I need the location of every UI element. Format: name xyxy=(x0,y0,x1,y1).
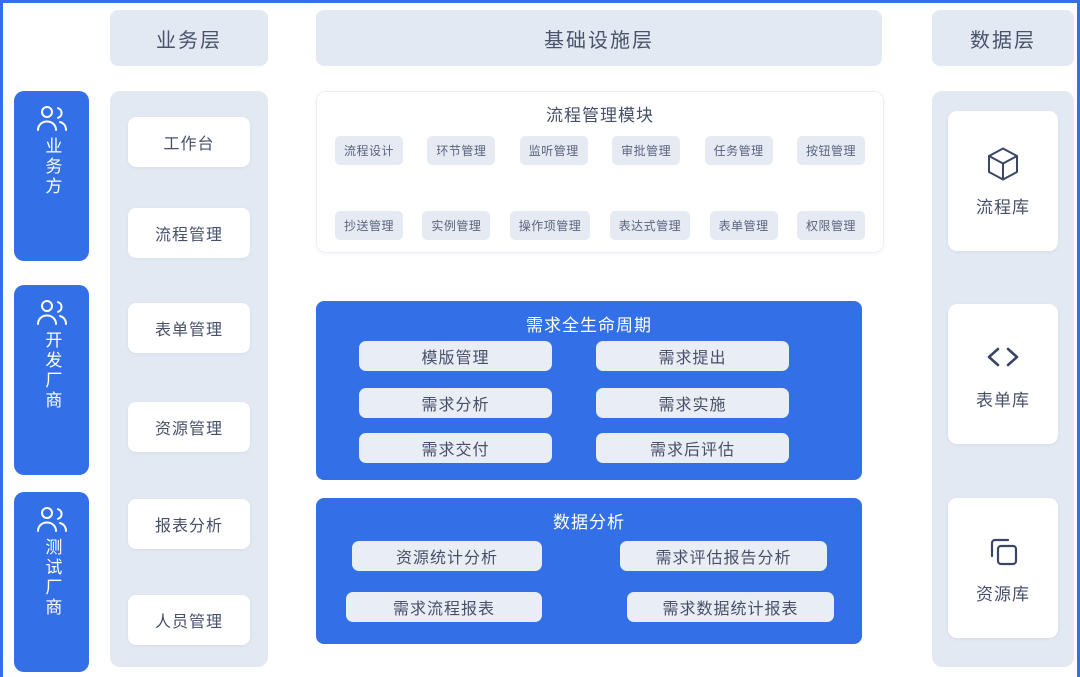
lifecycle-item-label: 需求提出 xyxy=(658,344,726,368)
process-module-title: 流程管理模块 xyxy=(317,101,883,126)
copy-layers-icon xyxy=(984,532,1022,570)
business-item-personnel-management[interactable]: 人员管理 xyxy=(128,595,250,645)
actor-card-test-vendor[interactable]: 测试厂商 xyxy=(14,492,89,672)
users-icon xyxy=(35,105,69,131)
lifecycle-item-requirement-implementation[interactable]: 需求实施 xyxy=(596,388,789,418)
lifecycle-item-label: 需求后评估 xyxy=(650,436,735,460)
data-analysis-panel-title: 数据分析 xyxy=(316,508,862,533)
process-chip[interactable]: 操作项管理 xyxy=(510,211,591,240)
actor-card-label: 开发厂商 xyxy=(41,331,63,411)
lifecycle-item-template-management[interactable]: 模版管理 xyxy=(359,341,552,371)
analysis-item-requirement-evaluation-report[interactable]: 需求评估报告分析 xyxy=(620,541,827,571)
analysis-item-label: 资源统计分析 xyxy=(396,544,498,568)
lifecycle-item-label: 需求实施 xyxy=(658,391,726,415)
process-chip-row-1: 流程设计 环节管理 监听管理 审批管理 任务管理 按钮管理 xyxy=(335,136,865,165)
business-item-label: 流程管理 xyxy=(155,221,223,245)
data-card-form-library[interactable]: 表单库 xyxy=(948,304,1058,444)
lifecycle-item-post-evaluation[interactable]: 需求后评估 xyxy=(596,433,789,463)
cube-icon xyxy=(984,145,1022,183)
business-item-form-management[interactable]: 表单管理 xyxy=(128,303,250,353)
actor-card-label: 业务方 xyxy=(41,137,63,197)
process-chip[interactable]: 监听管理 xyxy=(520,136,588,165)
analysis-item-label: 需求数据统计报表 xyxy=(662,595,798,619)
data-card-label: 表单库 xyxy=(976,386,1030,411)
business-item-label: 表单管理 xyxy=(155,316,223,340)
header-data-layer: 数据层 xyxy=(932,10,1074,66)
header-infrastructure-layer-label: 基础设施层 xyxy=(544,24,654,53)
process-chip[interactable]: 实例管理 xyxy=(422,211,490,240)
architecture-diagram: 业务层 基础设施层 数据层 业务方 开发厂商 xyxy=(0,0,1080,677)
lifecycle-item-label: 需求分析 xyxy=(421,391,489,415)
process-chip[interactable]: 表达式管理 xyxy=(610,211,691,240)
process-chip[interactable]: 抄送管理 xyxy=(335,211,403,240)
header-infrastructure-layer: 基础设施层 xyxy=(316,10,882,66)
analysis-item-requirement-process-report[interactable]: 需求流程报表 xyxy=(346,592,542,622)
header-data-layer-label: 数据层 xyxy=(970,24,1036,53)
data-card-process-library[interactable]: 流程库 xyxy=(948,111,1058,251)
lifecycle-item-label: 需求交付 xyxy=(421,436,489,460)
business-item-label: 资源管理 xyxy=(155,415,223,439)
analysis-item-resource-statistics[interactable]: 资源统计分析 xyxy=(352,541,542,571)
process-chip[interactable]: 表单管理 xyxy=(710,211,778,240)
business-item-workbench[interactable]: 工作台 xyxy=(128,117,250,167)
lifecycle-panel: 需求全生命周期 模版管理 需求分析 需求交付 需求提出 需求实施 需求后评估 xyxy=(316,301,862,480)
process-chip[interactable]: 任务管理 xyxy=(705,136,773,165)
analysis-item-requirement-data-report[interactable]: 需求数据统计报表 xyxy=(627,592,834,622)
process-management-module: 流程管理模块 流程设计 环节管理 监听管理 审批管理 任务管理 按钮管理 抄送管… xyxy=(316,91,884,253)
lifecycle-item-label: 模版管理 xyxy=(421,344,489,368)
business-item-resource-management[interactable]: 资源管理 xyxy=(128,402,250,452)
business-item-label: 人员管理 xyxy=(155,608,223,632)
lifecycle-item-requirement-analysis[interactable]: 需求分析 xyxy=(359,388,552,418)
header-business-layer-label: 业务层 xyxy=(156,24,222,53)
process-chip[interactable]: 环节管理 xyxy=(427,136,495,165)
business-item-report-analysis[interactable]: 报表分析 xyxy=(128,499,250,549)
analysis-item-label: 需求流程报表 xyxy=(393,595,495,619)
process-chip[interactable]: 按钮管理 xyxy=(797,136,865,165)
code-brackets-icon xyxy=(984,338,1022,376)
lifecycle-item-requirement-delivery[interactable]: 需求交付 xyxy=(359,433,552,463)
analysis-item-label: 需求评估报告分析 xyxy=(655,544,791,568)
process-chip[interactable]: 流程设计 xyxy=(335,136,403,165)
users-icon xyxy=(35,506,69,532)
business-item-label: 工作台 xyxy=(163,130,214,154)
data-analysis-panel: 数据分析 资源统计分析 需求流程报表 需求评估报告分析 需求数据统计报表 xyxy=(316,498,862,644)
business-item-process-management[interactable]: 流程管理 xyxy=(128,208,250,258)
lifecycle-panel-title: 需求全生命周期 xyxy=(316,311,862,336)
process-chip[interactable]: 审批管理 xyxy=(612,136,680,165)
process-chip-row-2: 抄送管理 实例管理 操作项管理 表达式管理 表单管理 权限管理 xyxy=(335,211,865,240)
data-layer-column: 流程库 表单库 资源库 xyxy=(932,91,1074,667)
data-card-label: 流程库 xyxy=(976,193,1030,218)
actor-card-label: 测试厂商 xyxy=(41,538,63,618)
data-card-resource-library[interactable]: 资源库 xyxy=(948,498,1058,638)
business-item-label: 报表分析 xyxy=(155,512,223,536)
actor-card-dev-vendor[interactable]: 开发厂商 xyxy=(14,285,89,475)
users-icon xyxy=(35,299,69,325)
data-card-label: 资源库 xyxy=(976,580,1030,605)
lifecycle-item-requirement-proposal[interactable]: 需求提出 xyxy=(596,341,789,371)
header-business-layer: 业务层 xyxy=(110,10,268,66)
business-layer-column: 工作台 流程管理 表单管理 资源管理 报表分析 人员管理 xyxy=(110,91,268,667)
process-chip[interactable]: 权限管理 xyxy=(797,211,865,240)
actor-card-business-party[interactable]: 业务方 xyxy=(14,91,89,261)
